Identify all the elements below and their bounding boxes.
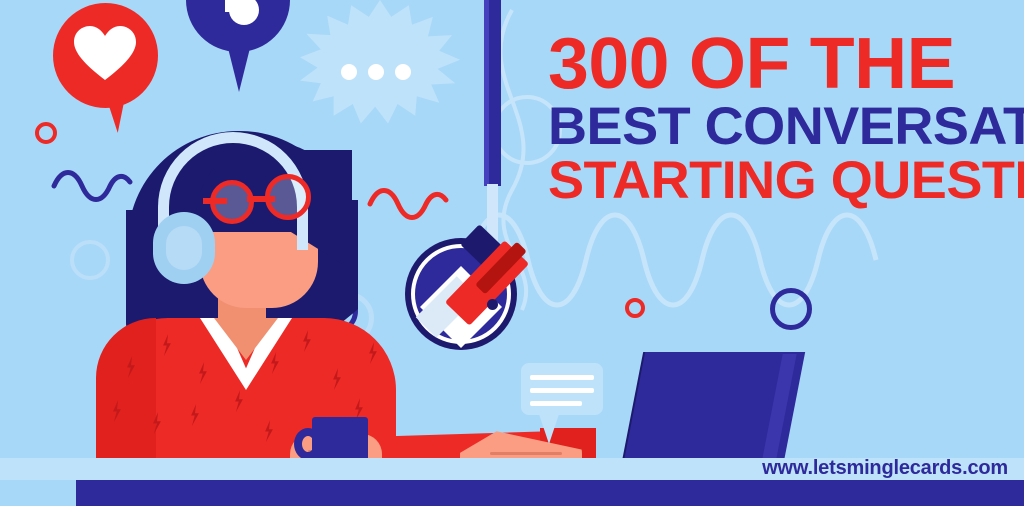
music-note-icon	[214, 0, 266, 34]
microphone-stand-highlight	[484, 0, 489, 186]
ellipsis-icon	[395, 64, 411, 80]
ellipsis-icon	[341, 64, 357, 80]
navy-squiggle-decoration	[52, 172, 132, 202]
headline-line-1: 300 OF THE	[548, 30, 1017, 98]
headline-line-3: STARTING QUESTION	[548, 156, 1017, 206]
text-lines-icon	[530, 388, 594, 393]
headline-line-2: BEST CONVERSATION	[548, 102, 1017, 152]
message-bubble-tail	[539, 414, 559, 444]
red-squiggle-decoration	[368, 188, 448, 218]
site-url[interactable]: www.letsminglecards.com	[762, 457, 1008, 480]
promo-banner: 300 OF THE BEST CONVERSATION STARTING QU…	[0, 0, 1024, 506]
text-lines-icon	[530, 375, 594, 380]
music-bubble-tail	[226, 40, 252, 92]
headline: 300 OF THE BEST CONVERSATION STARTING QU…	[548, 30, 1008, 206]
glasses-arm	[203, 198, 227, 204]
heart-icon	[74, 26, 136, 82]
red-circle-outline-decoration-2	[625, 298, 645, 318]
headphone-earcup-inner	[166, 226, 202, 270]
finger-line	[490, 452, 562, 455]
text-lines-icon	[530, 401, 582, 406]
ellipsis-icon	[368, 64, 384, 80]
navy-circle-outline-decoration	[770, 288, 812, 330]
glasses-bridge	[247, 196, 275, 202]
desk-edge	[76, 480, 1024, 506]
microphone-pivot-dot	[487, 299, 498, 310]
pale-circle-outline-decoration-2	[70, 240, 110, 280]
red-circle-outline-decoration	[35, 122, 57, 144]
